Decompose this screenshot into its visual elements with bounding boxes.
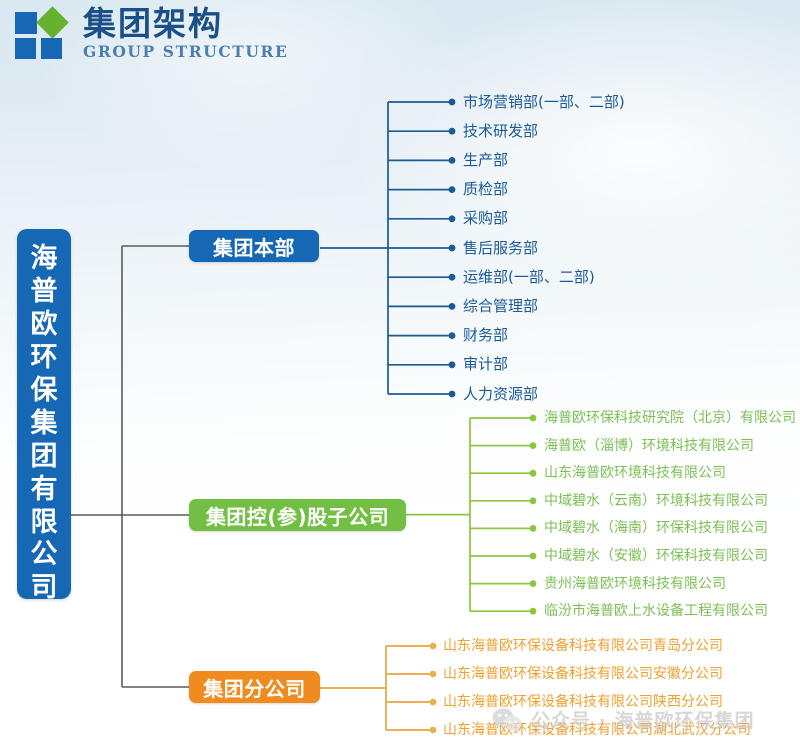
leaf-bullet-icon [430,643,437,650]
department-item[interactable]: 采购部 [463,210,508,228]
subsidiary-label: 临汾市海普欧上水设备工程有限公司 [544,604,768,618]
department-label: 生产部 [463,153,508,168]
department-label: 人力资源部 [463,387,538,402]
branch-item[interactable]: 山东海普欧环保设备科技有限公司青岛分公司 [443,637,723,655]
leaf-bullet-icon [449,391,456,398]
subsidiary-item[interactable]: 山东海普欧环境科技有限公司 [544,464,726,482]
subsidiary-label: 中域碧水（安徽）环保科技有限公司 [544,549,768,563]
watermark: 公众号 · 海普欧环保集团 [492,706,754,733]
root-company-char: 司 [17,572,71,605]
root-company-char: 环 [17,342,71,375]
page-title: 集团架构 [83,7,288,40]
leaf-bullet-icon [530,553,537,560]
category-branches[interactable]: 集团分公司 [189,671,320,703]
org-chart-page: 集团架构 GROUP STRUCTURE 集团本部 集团控(参)股子公司 集团分… [0,0,800,750]
department-item[interactable]: 售后服务部 [463,239,538,257]
subsidiary-item[interactable]: 中域碧水（安徽）环保科技有限公司 [544,547,768,565]
category-headquarters[interactable]: 集团本部 [189,230,319,262]
leaf-bullet-icon [449,99,456,106]
watermark-text: 公众号 · 海普欧环保集团 [531,706,754,733]
leaf-bullet-icon [449,215,456,222]
leaf-bullet-icon [449,274,456,281]
department-item[interactable]: 综合管理部 [463,297,538,315]
subsidiary-item[interactable]: 中域碧水（海南）环保科技有限公司 [544,519,768,537]
subsidiary-item[interactable]: 海普欧（淄博）环境科技有限公司 [544,437,754,455]
branch-item[interactable]: 山东海普欧环保设备科技有限公司安徽分公司 [443,665,723,683]
department-label: 综合管理部 [463,299,538,314]
leaf-bullet-icon [530,608,537,615]
root-company-char: 海 [17,243,71,276]
leaf-bullet-icon [430,727,437,734]
department-item[interactable]: 市场营销部(一部、二部) [463,93,625,111]
department-item[interactable]: 财务部 [463,327,508,345]
department-item[interactable]: 生产部 [463,151,508,169]
leaf-bullet-icon [449,361,456,368]
subsidiary-item[interactable]: 海普欧环保科技研究院（北京）有限公司 [544,409,796,427]
wechat-icon [492,707,522,733]
root-company-box[interactable]: 海普欧环保集团有限公司 [17,229,71,599]
root-company-char: 限 [17,507,71,540]
subsidiary-item[interactable]: 贵州海普欧环境科技有限公司 [544,575,726,593]
subsidiary-item[interactable]: 中域碧水（云南）环境科技有限公司 [544,492,768,510]
department-label: 采购部 [463,211,508,226]
page-subtitle: GROUP STRUCTURE [83,44,288,60]
header-titles: 集团架构 GROUP STRUCTURE [83,6,288,60]
leaf-bullet-icon [530,525,537,532]
subsidiary-label: 海普欧（淄博）环境科技有限公司 [544,439,754,453]
leaf-bullet-icon [430,699,437,706]
root-company-char: 普 [17,276,71,309]
department-label: 售后服务部 [463,241,538,256]
leaf-bullet-icon [449,332,456,339]
root-company-char: 团 [17,441,71,474]
department-label: 审计部 [463,357,508,372]
leaf-bullet-icon [449,157,456,164]
leaf-bullet-icon [449,245,456,252]
department-item[interactable]: 质检部 [463,181,508,199]
department-item[interactable]: 技术研发部 [463,122,538,140]
department-label: 市场营销部(一部、二部) [463,95,625,110]
department-label: 质检部 [463,182,508,197]
department-item[interactable]: 审计部 [463,356,508,374]
subsidiary-label: 中域碧水（海南）环保科技有限公司 [544,521,768,535]
branch-label: 山东海普欧环保设备科技有限公司青岛分公司 [443,639,723,653]
leaf-bullet-icon [430,671,437,678]
subsidiary-label: 山东海普欧环境科技有限公司 [544,466,726,480]
subsidiary-label: 中域碧水（云南）环境科技有限公司 [544,494,768,508]
subsidiary-label: 贵州海普欧环境科技有限公司 [544,577,726,591]
subsidiary-label: 海普欧环保科技研究院（北京）有限公司 [544,411,796,425]
leaf-bullet-icon [530,415,537,422]
branch-label: 山东海普欧环保设备科技有限公司安徽分公司 [443,667,723,681]
root-company-char: 有 [17,474,71,507]
department-label: 技术研发部 [463,124,538,139]
leaf-bullet-icon [530,580,537,587]
root-company-char: 公 [17,539,71,572]
leaf-bullet-icon [530,470,537,477]
root-company-char: 欧 [17,309,71,342]
department-label: 运维部(一部、二部) [463,270,595,285]
leaf-bullet-icon [530,497,537,504]
leaf-bullet-icon [449,128,456,135]
leaf-bullet-icon [530,442,537,449]
page-header: 集团架构 GROUP STRUCTURE [14,6,288,60]
root-company-char: 集 [17,408,71,441]
subsidiary-item[interactable]: 临汾市海普欧上水设备工程有限公司 [544,602,768,620]
department-item[interactable]: 运维部(一部、二部) [463,268,595,286]
leaf-bullet-icon [449,186,456,193]
department-item[interactable]: 人力资源部 [463,385,538,403]
leaf-bullet-icon [449,303,456,310]
group-structure-logo-icon [14,7,72,59]
department-label: 财务部 [463,328,508,343]
category-subsidiaries[interactable]: 集团控(参)股子公司 [189,499,406,531]
root-company-char: 保 [17,375,71,408]
